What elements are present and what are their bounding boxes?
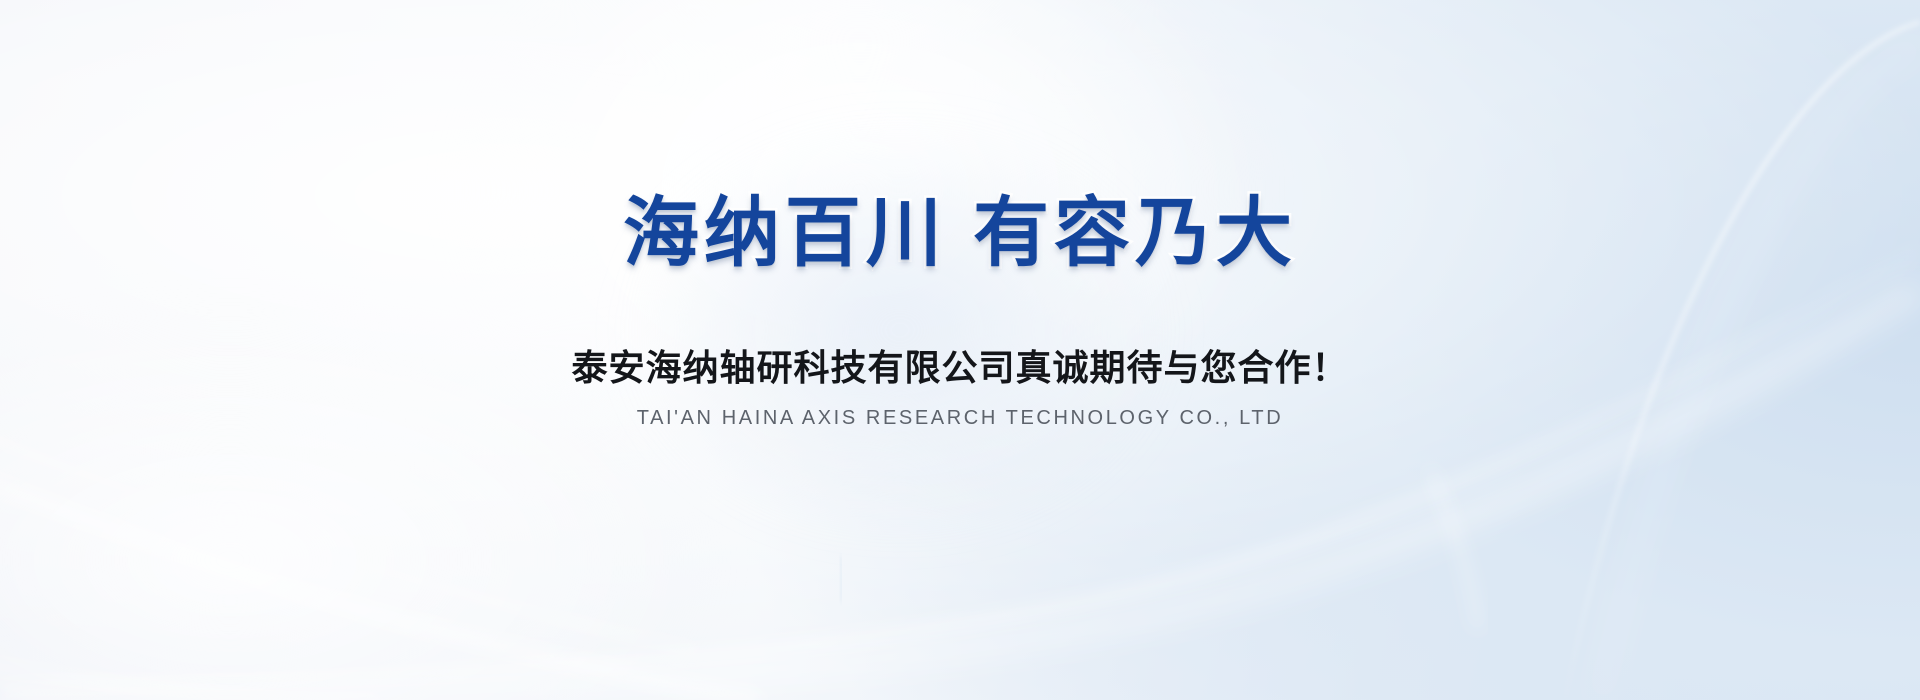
subtitle-chinese: 泰安海纳轴研科技有限公司真诚期待与您合作！ [571, 350, 1348, 386]
hero-banner: 海纳百川 有容乃大 泰安海纳轴研科技有限公司真诚期待与您合作！ TAI'AN H… [0, 0, 1920, 700]
subtitle-english: TAI'AN HAINA AXIS RESEARCH TECHNOLOGY CO… [637, 408, 1284, 428]
banner-content: 海纳百川 有容乃大 泰安海纳轴研科技有限公司真诚期待与您合作！ TAI'AN H… [0, 0, 1920, 700]
page-title: 海纳百川 有容乃大 [623, 196, 1297, 272]
